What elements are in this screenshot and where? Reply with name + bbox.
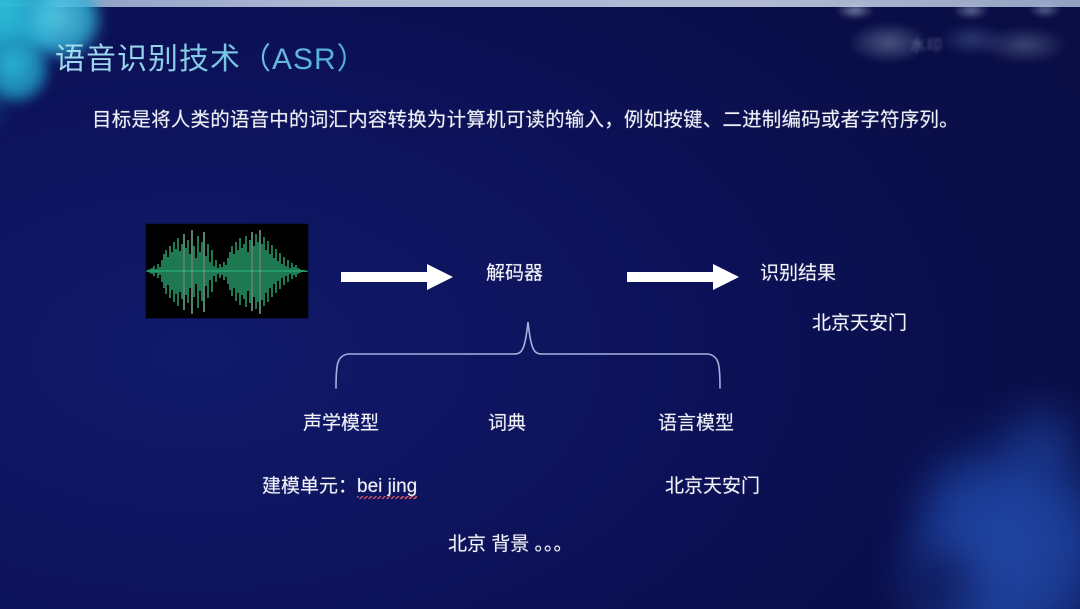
component-label-dictionary: 词典 [488,408,526,435]
page-title: 语音识别技术（ASR） [55,34,368,78]
language-model-detail: 北京天安门 [665,471,760,498]
decoder-label: 解码器 [486,258,543,285]
language-model-example: 北京 背景 。。。 [448,529,573,556]
result-label: 识别结果 [760,258,836,285]
top-strip-decoration [0,0,1080,7]
modeling-unit-value: bei jing [357,476,417,499]
speech-waveform-image [146,224,308,318]
component-label-language-model: 语言模型 [658,408,734,435]
component-label-acoustic-model: 声学模型 [303,408,379,435]
slide-canvas: 水印 语音识别技术（ASR） 目标是将人类的语音中的词汇内容转换为计算机可读的输… [0,0,1080,609]
lead-paragraph: 目标是将人类的语音中的词汇内容转换为计算机可读的输入，例如按键、二进制编码或者字… [92,103,959,132]
result-value: 北京天安门 [812,308,907,335]
arrow-right-icon-2 [627,262,739,292]
grouping-brace [332,312,724,390]
acoustic-model-detail: 建模单元：bei jing [262,471,417,498]
arrow-right-icon-1 [341,262,453,292]
modeling-unit-prefix: 建模单元： [262,476,357,497]
